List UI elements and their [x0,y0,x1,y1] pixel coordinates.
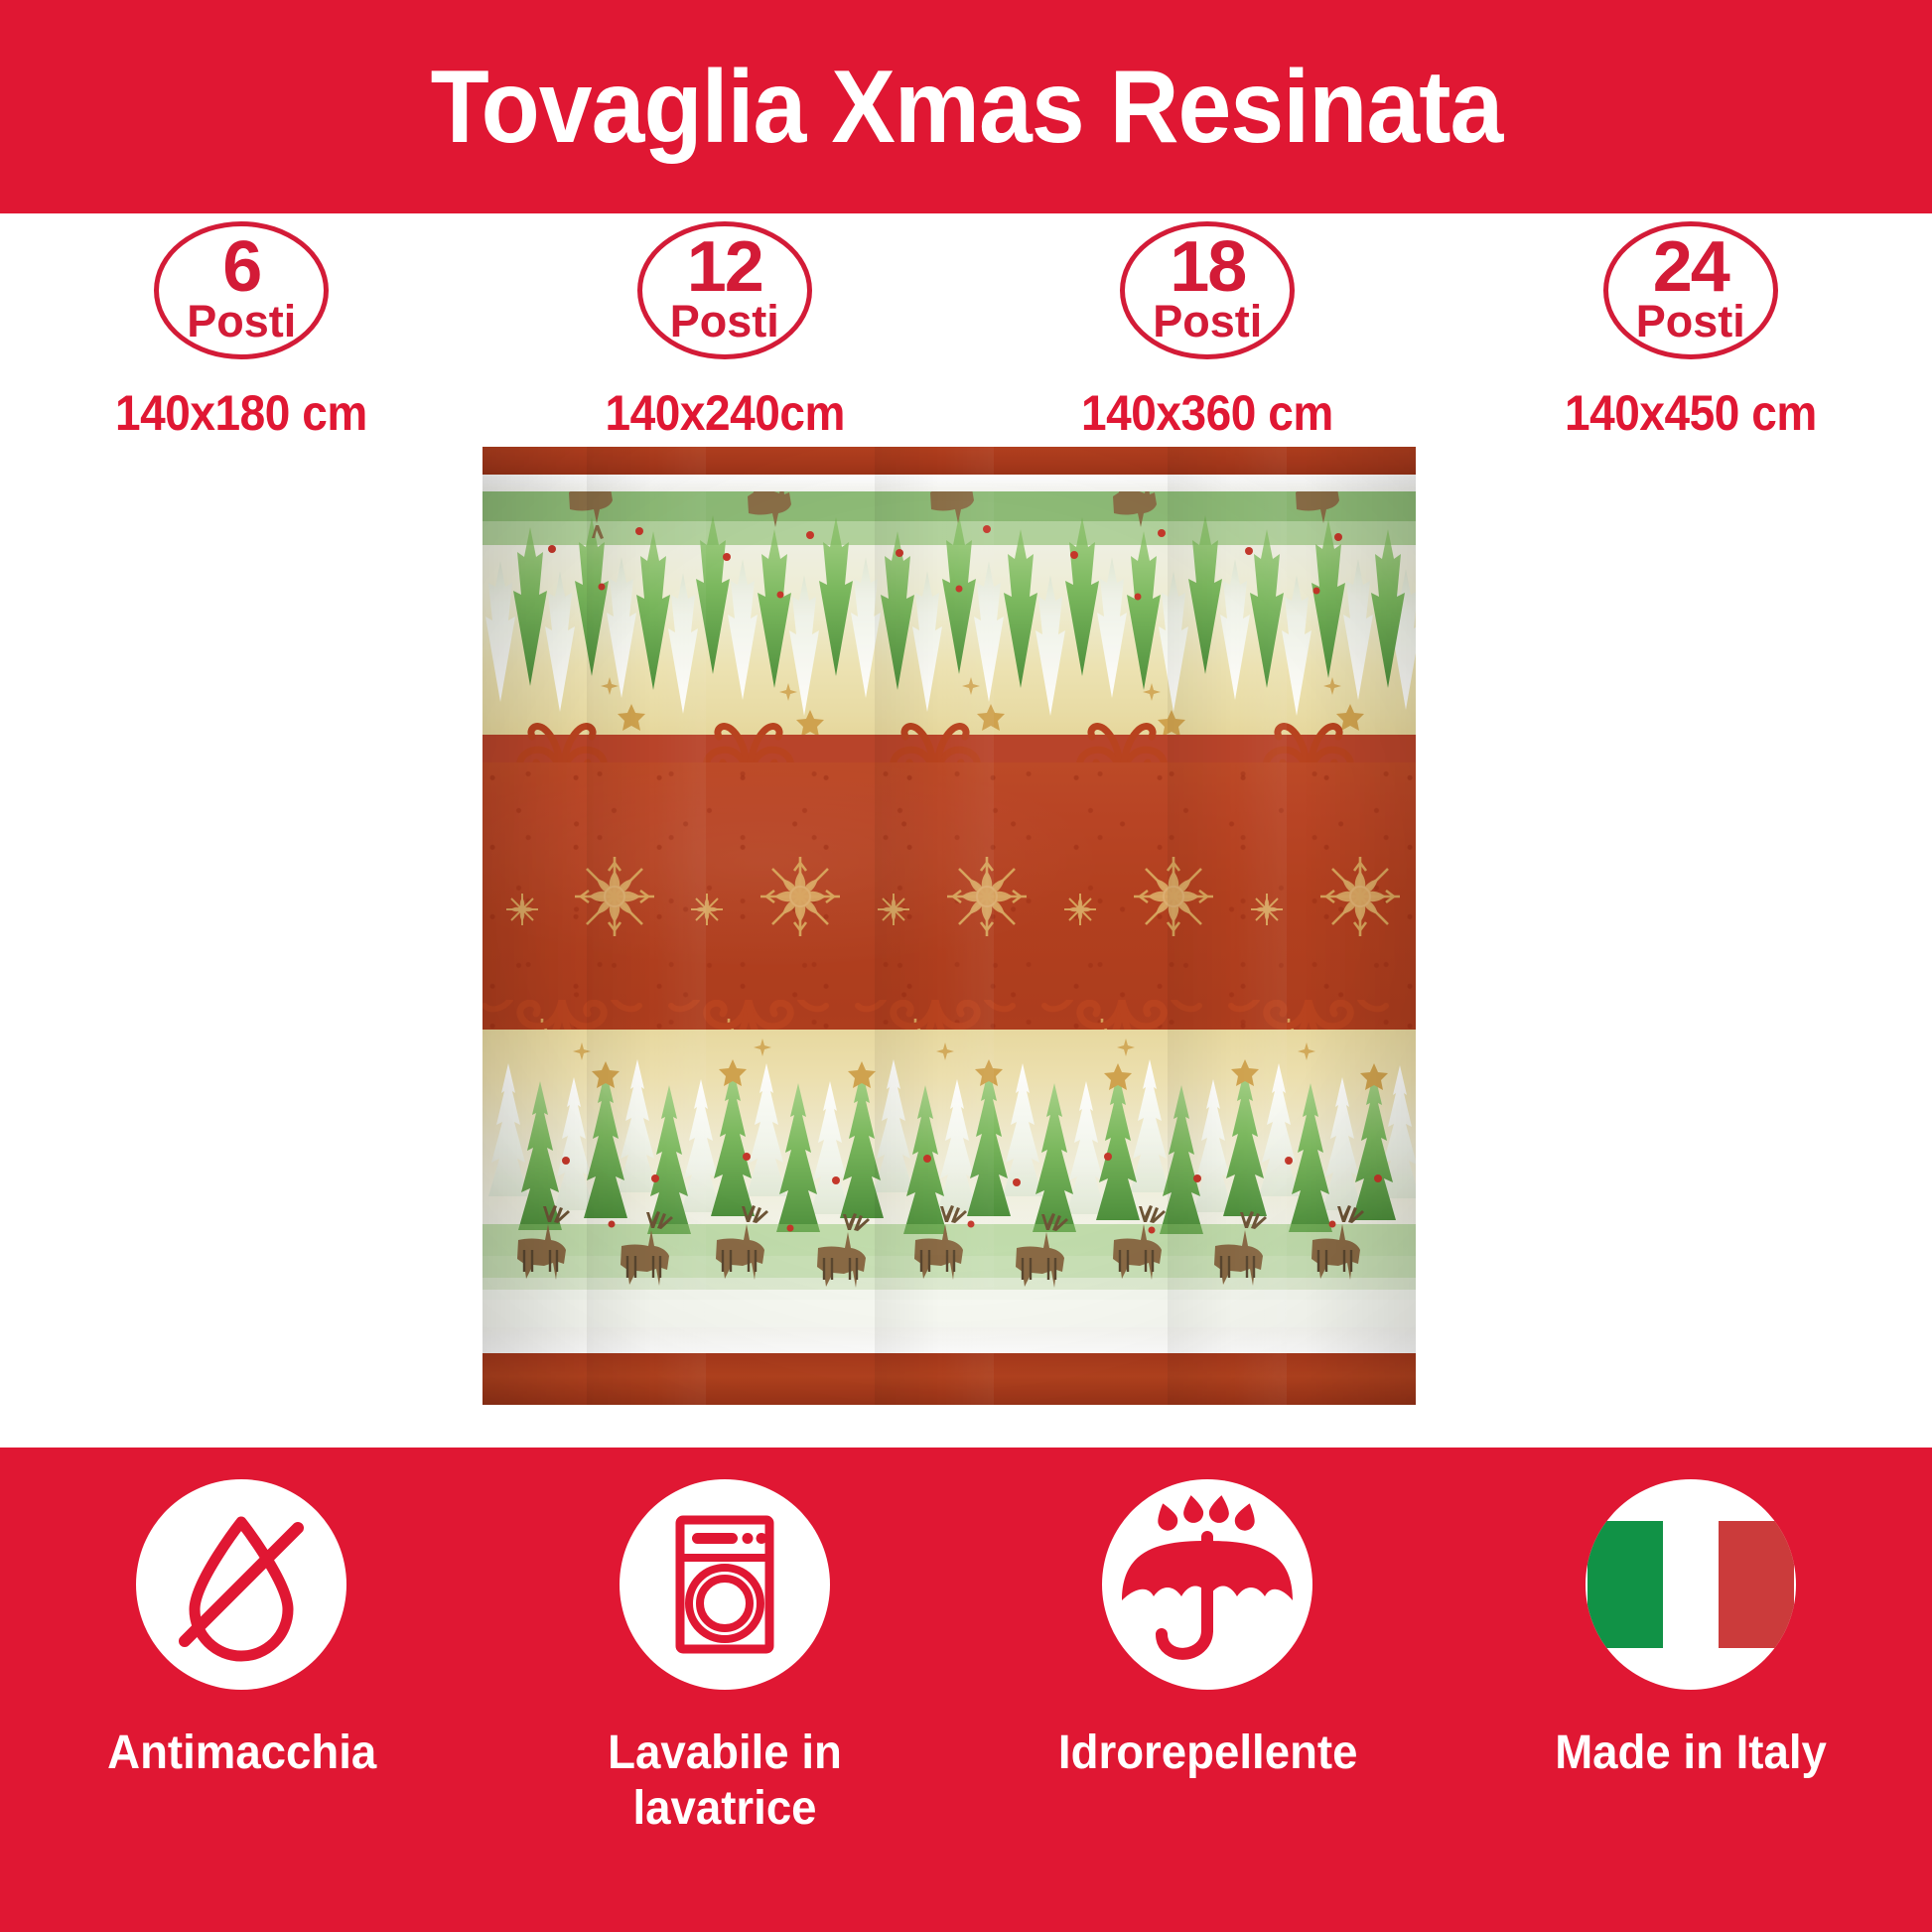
size-badge-circle: 24 Posti [1603,221,1778,359]
size-count: 6 [222,237,260,299]
tablecloth-bottom-snow-strip [483,1327,1416,1353]
feature-lavabile[interactable]: Lavabile in lavatrice [483,1448,967,1932]
size-option-24[interactable]: 24 Posti 140x450 cm [1449,213,1932,442]
upper-forest-band [483,491,1416,735]
gold-snowflake-pattern-upper [483,762,1416,1011]
feature-icon-badge [136,1479,346,1690]
size-unit: Posti [1153,301,1262,344]
product-infographic: Tovaglia Xmas Resinata 6 Posti 140x180 c… [0,0,1932,1932]
feature-icon-badge [1102,1479,1312,1690]
size-badge-circle: 18 Posti [1120,221,1295,359]
center-red-field-upper [483,762,1416,1011]
feature-antimacchia[interactable]: Antimacchia [0,1448,483,1932]
page-title: Tovaglia Xmas Resinata [430,56,1502,159]
pine-forest-reindeer-graphic [483,1030,1416,1327]
size-unit: Posti [670,301,779,344]
size-dimensions: 140x360 cm [1081,384,1333,442]
feature-made-in-italy[interactable]: Made in Italy [1449,1448,1932,1932]
feature-icon-badge [620,1479,830,1690]
size-unit: Posti [187,301,296,344]
size-options-row: 6 Posti 140x180 cm 12 Posti 140x240cm 18… [0,213,1932,442]
feature-idrorepellente[interactable]: Idrorepellente [966,1448,1449,1932]
size-dimensions: 140x450 cm [1565,384,1817,442]
size-dimensions: 140x240cm [605,384,844,442]
size-option-12[interactable]: 12 Posti 140x240cm [483,213,967,442]
feature-icon-badge [1586,1479,1796,1690]
washing-machine-icon [640,1500,809,1669]
size-badge-circle: 12 Posti [637,221,812,359]
size-count: 12 [687,237,762,299]
tablecloth-bottom-hem [483,1353,1416,1405]
size-unit: Posti [1636,301,1745,344]
umbrella-rain-icon [1108,1485,1307,1684]
features-banner: Antimacchia Lavabile in lavatrice [0,1448,1932,1932]
tablecloth-top-snow-strip [483,475,1416,491]
size-option-6[interactable]: 6 Posti 140x180 cm [0,213,483,442]
no-stain-droplet-icon [157,1500,326,1669]
inverted-pine-forest-graphic [483,491,1416,735]
tablecloth-top-hem [483,447,1416,475]
size-dimensions: 140x180 cm [115,384,367,442]
size-badge-circle: 6 Posti [154,221,329,359]
size-option-18[interactable]: 18 Posti 140x360 cm [966,213,1449,442]
feature-label: Lavabile in lavatrice [569,1725,881,1836]
product-photo[interactable] [483,447,1416,1405]
feature-label: Made in Italy [1555,1725,1827,1781]
lower-forest-band [483,1030,1416,1327]
header-banner: Tovaglia Xmas Resinata [0,0,1932,213]
size-count: 18 [1170,237,1245,299]
feature-label: Antimacchia [107,1725,376,1781]
size-count: 24 [1653,237,1728,299]
feature-label: Idrorepellente [1057,1725,1357,1781]
italian-flag-icon [1586,1479,1796,1690]
